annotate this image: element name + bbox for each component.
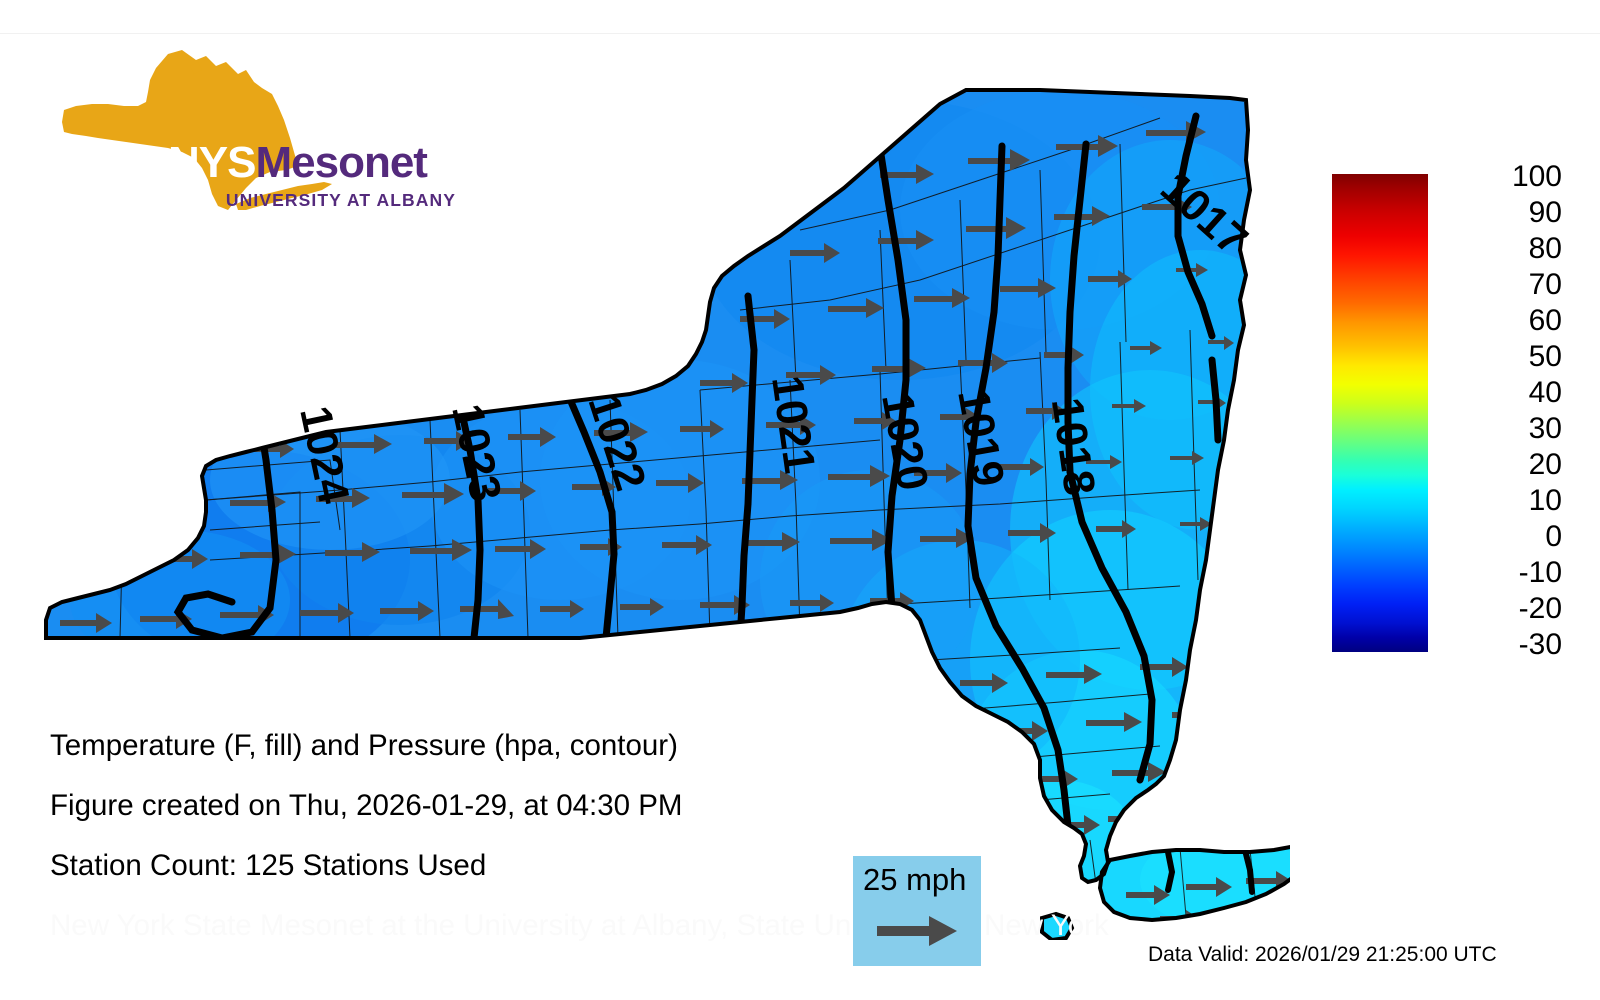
wind-legend-label: 25 mph: [863, 862, 966, 898]
colorbar-tick: 30: [1529, 414, 1562, 444]
figure-caption: Temperature (F, fill) and Pressure (hpa,…: [50, 716, 810, 956]
colorbar-tick: 10: [1529, 486, 1562, 516]
top-divider: [0, 33, 1600, 34]
colorbar-tick: 20: [1529, 450, 1562, 480]
caption-station-count-line: Station Count: 125 Stations Used: [50, 836, 810, 896]
colorbar-tick: 90: [1529, 198, 1562, 228]
colorbar-tick: 60: [1529, 306, 1562, 336]
colorbar-tick-labels: 100 90 80 70 60 50 40 30 20 10 0 -10 -20…: [1436, 162, 1564, 664]
colorbar-gradient-strip: [1332, 174, 1428, 652]
colorbar-tick: 50: [1529, 342, 1562, 372]
caption-created-line: Figure created on Thu, 2026-01-29, at 04…: [50, 776, 810, 836]
colorbar-tick: 40: [1529, 378, 1562, 408]
temperature-colorbar: 100 90 80 70 60 50 40 30 20 10 0 -10 -20…: [1332, 174, 1572, 652]
wind-arrow-icon: [877, 914, 961, 948]
data-valid-timestamp: Data Valid: 2026/01/29 21:25:00 UTC: [1148, 943, 1497, 967]
caption-attribution-line: New York State Mesonet at the University…: [50, 896, 810, 956]
colorbar-tick: 0: [1545, 522, 1562, 552]
wind-speed-legend: 25 mph: [853, 856, 981, 966]
weather-map-figure: NYSMesonet UNIVERSITY AT ALBANY: [0, 0, 1600, 1000]
colorbar-tick: -10: [1519, 558, 1562, 588]
caption-title-line: Temperature (F, fill) and Pressure (hpa,…: [50, 716, 810, 776]
colorbar-tick: 80: [1529, 234, 1562, 264]
colorbar-tick: -30: [1519, 630, 1562, 660]
colorbar-tick: -20: [1519, 594, 1562, 624]
colorbar-tick: 70: [1529, 270, 1562, 300]
colorbar-tick: 100: [1512, 162, 1562, 192]
